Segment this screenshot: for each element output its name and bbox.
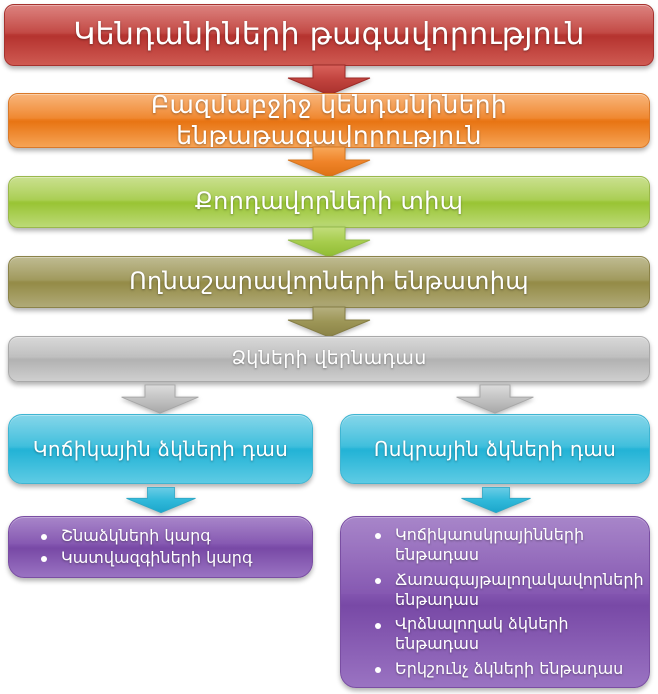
arrow-class-bone-to-subclasses	[448, 486, 544, 514]
arrow-subtype-to-superclass	[272, 306, 386, 338]
list-item: Ճառագայթալողակավորների ենթադաս	[395, 570, 644, 610]
bullet-dot-icon	[41, 556, 47, 562]
level-superclass-label: Ձկների վերնադաս	[231, 347, 426, 370]
list-item-label: Շնաձկների կարգ	[61, 526, 211, 545]
level-class-bone-box: Ոսկրային ձկների դաս	[340, 414, 650, 484]
animal-kingdom-hierarchy-diagram: Կենդանիների թագավորություն Բազմաբջիջ կեն…	[0, 0, 658, 694]
level-class-cartilage-box: Կոճիկային ձկների դաս	[8, 414, 313, 484]
level-kingdom-label: Կենդանիների թագավորություն	[73, 17, 584, 54]
list-item-label: Վրձնալողակ ձկների ենթադաս	[395, 614, 569, 653]
arrow-kingdom-to-subkingdom	[272, 64, 386, 96]
list-item-label: Կոճիկաոսկրայինների ենթադաս	[395, 525, 584, 564]
list-item: Վրձնալողակ ձկների ենթադաս	[395, 614, 644, 654]
level-subkingdom-label: Բազմաբջիջ կենդանիների ենթաթագավորություն	[9, 93, 649, 148]
arrow-subkingdom-to-type	[272, 146, 386, 178]
list-item-label: Երկշունչ ձկների ենթադաս	[395, 659, 623, 678]
subclasses-bone-box: Կոճիկաոսկրայինների ենթադաս Ճառագայթալողա…	[340, 516, 650, 688]
level-kingdom-bar: Կենդանիների թագավորություն	[4, 4, 654, 66]
level-subtype-label: Ողնաշարավորների ենթատիպ	[129, 267, 529, 296]
list-item: Կոճիկաոսկրայինների ենթադաս	[395, 525, 644, 565]
arrow-type-to-subtype	[272, 226, 386, 258]
list-item: Կատվազգիների կարգ	[61, 548, 298, 568]
level-subkingdom-bar: Բազմաբջիջ կենդանիների ենթաթագավորություն	[8, 93, 650, 148]
bullet-dot-icon	[375, 533, 381, 539]
level-subtype-bar: Ողնաշարավորների ենթատիպ	[8, 256, 650, 308]
orders-cartilage-list: Շնաձկների կարգ Կատվազգիների կարգ	[9, 524, 312, 570]
list-item-label: Կատվազգիների կարգ	[61, 548, 252, 567]
level-superclass-bar: Ձկների վերնադաս	[8, 336, 650, 382]
list-item: Երկշունչ ձկների ենթադաս	[395, 659, 644, 679]
bullet-dot-icon	[375, 667, 381, 673]
bullet-dot-icon	[375, 578, 381, 584]
level-type-bar: Քորդավորների տիպ	[8, 176, 650, 228]
bullet-dot-icon	[41, 534, 47, 540]
list-item-label: Ճառագայթալողակավորների ենթադաս	[395, 570, 644, 609]
level-type-label: Քորդավորների տիպ	[195, 187, 464, 216]
level-class-bone-label: Ոսկրային ձկների դաս	[374, 437, 616, 461]
arrow-class-cartilage-to-orders	[113, 486, 209, 514]
arrow-superclass-to-class-bone	[440, 384, 550, 414]
level-class-cartilage-label: Կոճիկային ձկների դաս	[33, 437, 288, 461]
arrow-superclass-to-class-cartilage	[105, 384, 215, 414]
orders-cartilage-box: Շնաձկների կարգ Կատվազգիների կարգ	[8, 516, 313, 578]
bullet-dot-icon	[375, 623, 381, 629]
list-item: Շնաձկների կարգ	[61, 526, 298, 546]
subclasses-bone-list: Կոճիկաոսկրայինների ենթադաս Ճառագայթալողա…	[341, 520, 650, 684]
